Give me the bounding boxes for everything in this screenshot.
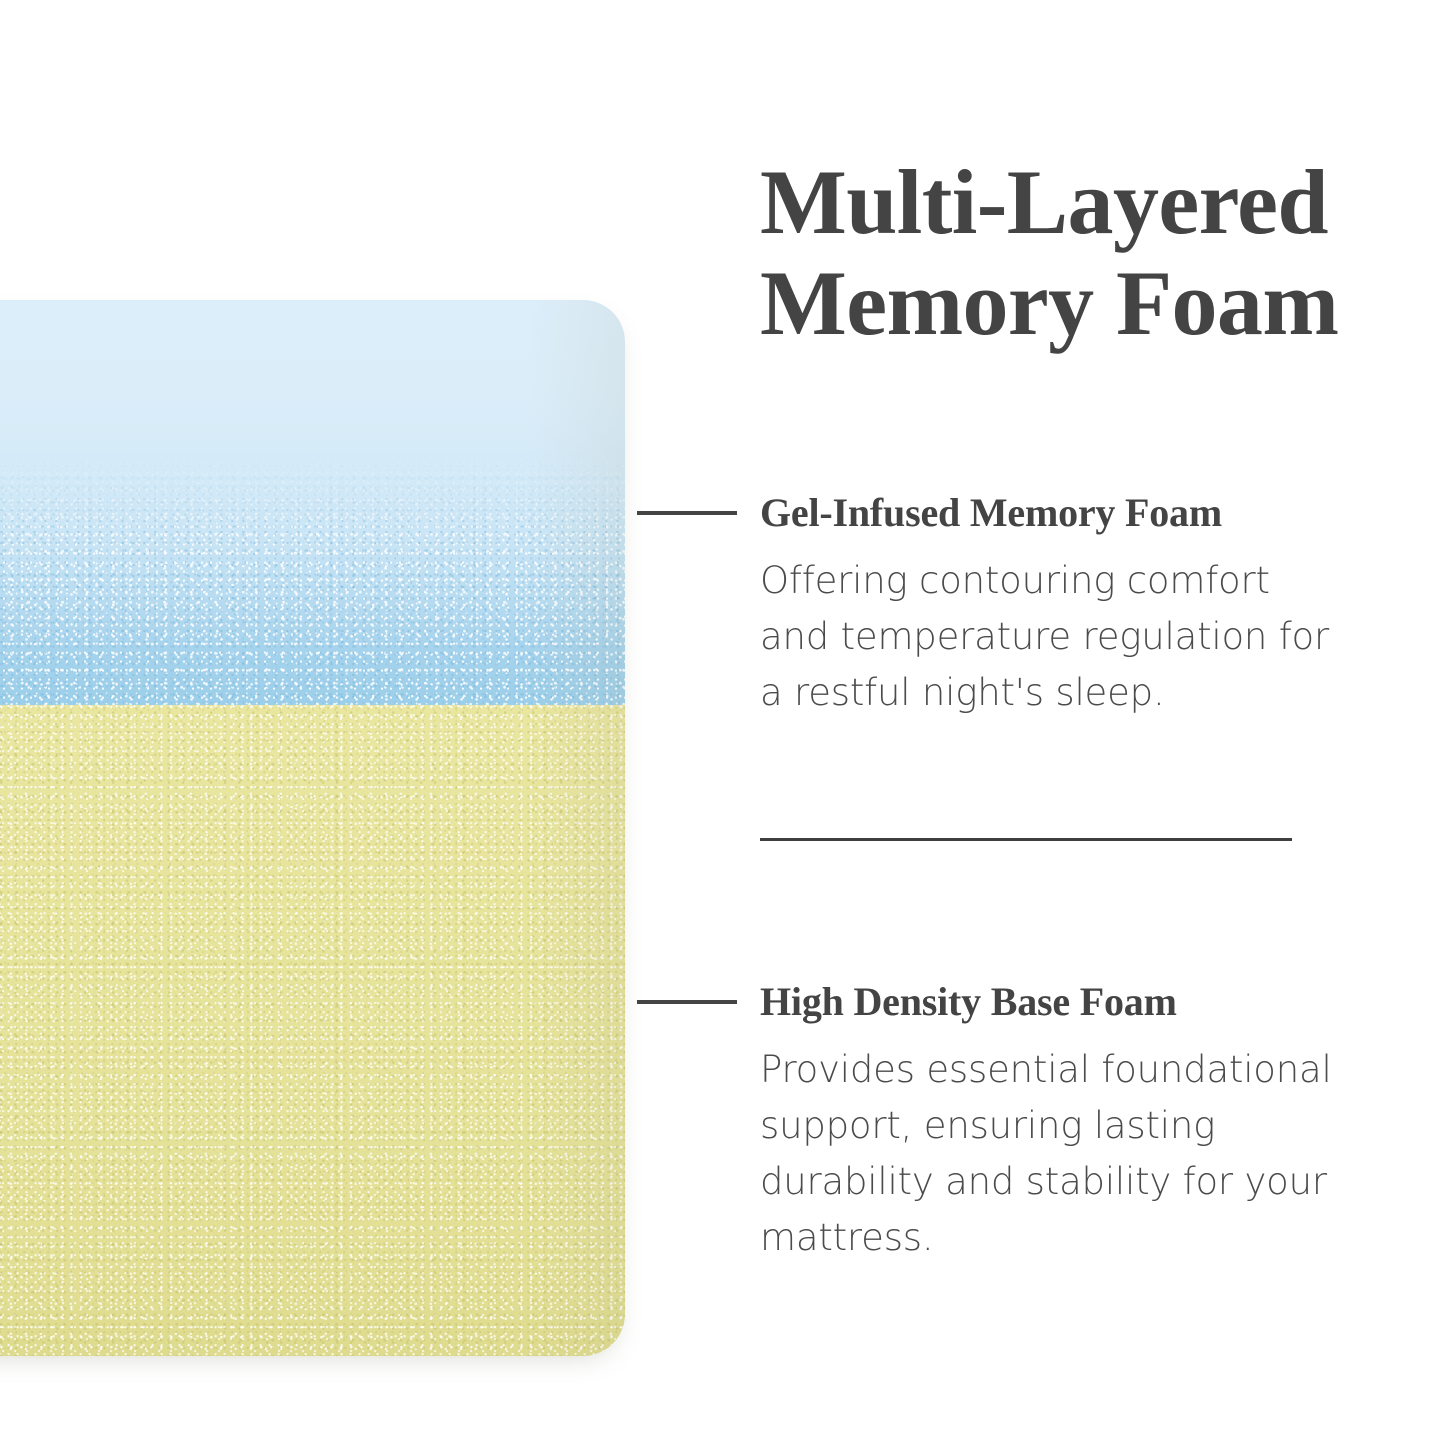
feature-description: Offering contouring comfort and temperat… — [760, 553, 1340, 721]
leader-dash-icon — [637, 511, 737, 515]
feature-title: Gel-Infused Memory Foam — [737, 490, 1222, 536]
feature-callout-high-density-base: High Density Base Foam Provides essentia… — [637, 976, 1337, 1266]
feature-heading-row: High Density Base Foam — [637, 976, 1337, 1028]
leader-dash-icon — [637, 1000, 737, 1004]
feature-callout-gel-infused: Gel-Infused Memory Foam Offering contour… — [637, 487, 1337, 721]
feature-description: Provides essential foundational support,… — [760, 1042, 1380, 1266]
feature-heading-row: Gel-Infused Memory Foam — [637, 487, 1337, 539]
foam-block-illustration — [0, 300, 625, 1356]
foam-texture-gel — [0, 300, 625, 705]
foam-texture-base — [0, 705, 625, 1356]
section-divider — [760, 838, 1292, 841]
product-infographic: Multi-Layered Memory Foam Gel-Infused Me… — [0, 0, 1445, 1445]
page-title: Multi-Layered Memory Foam — [760, 152, 1400, 354]
feature-title: High Density Base Foam — [737, 979, 1177, 1025]
foam-layer-gel-infused — [0, 300, 625, 705]
foam-layer-high-density-base — [0, 705, 625, 1356]
